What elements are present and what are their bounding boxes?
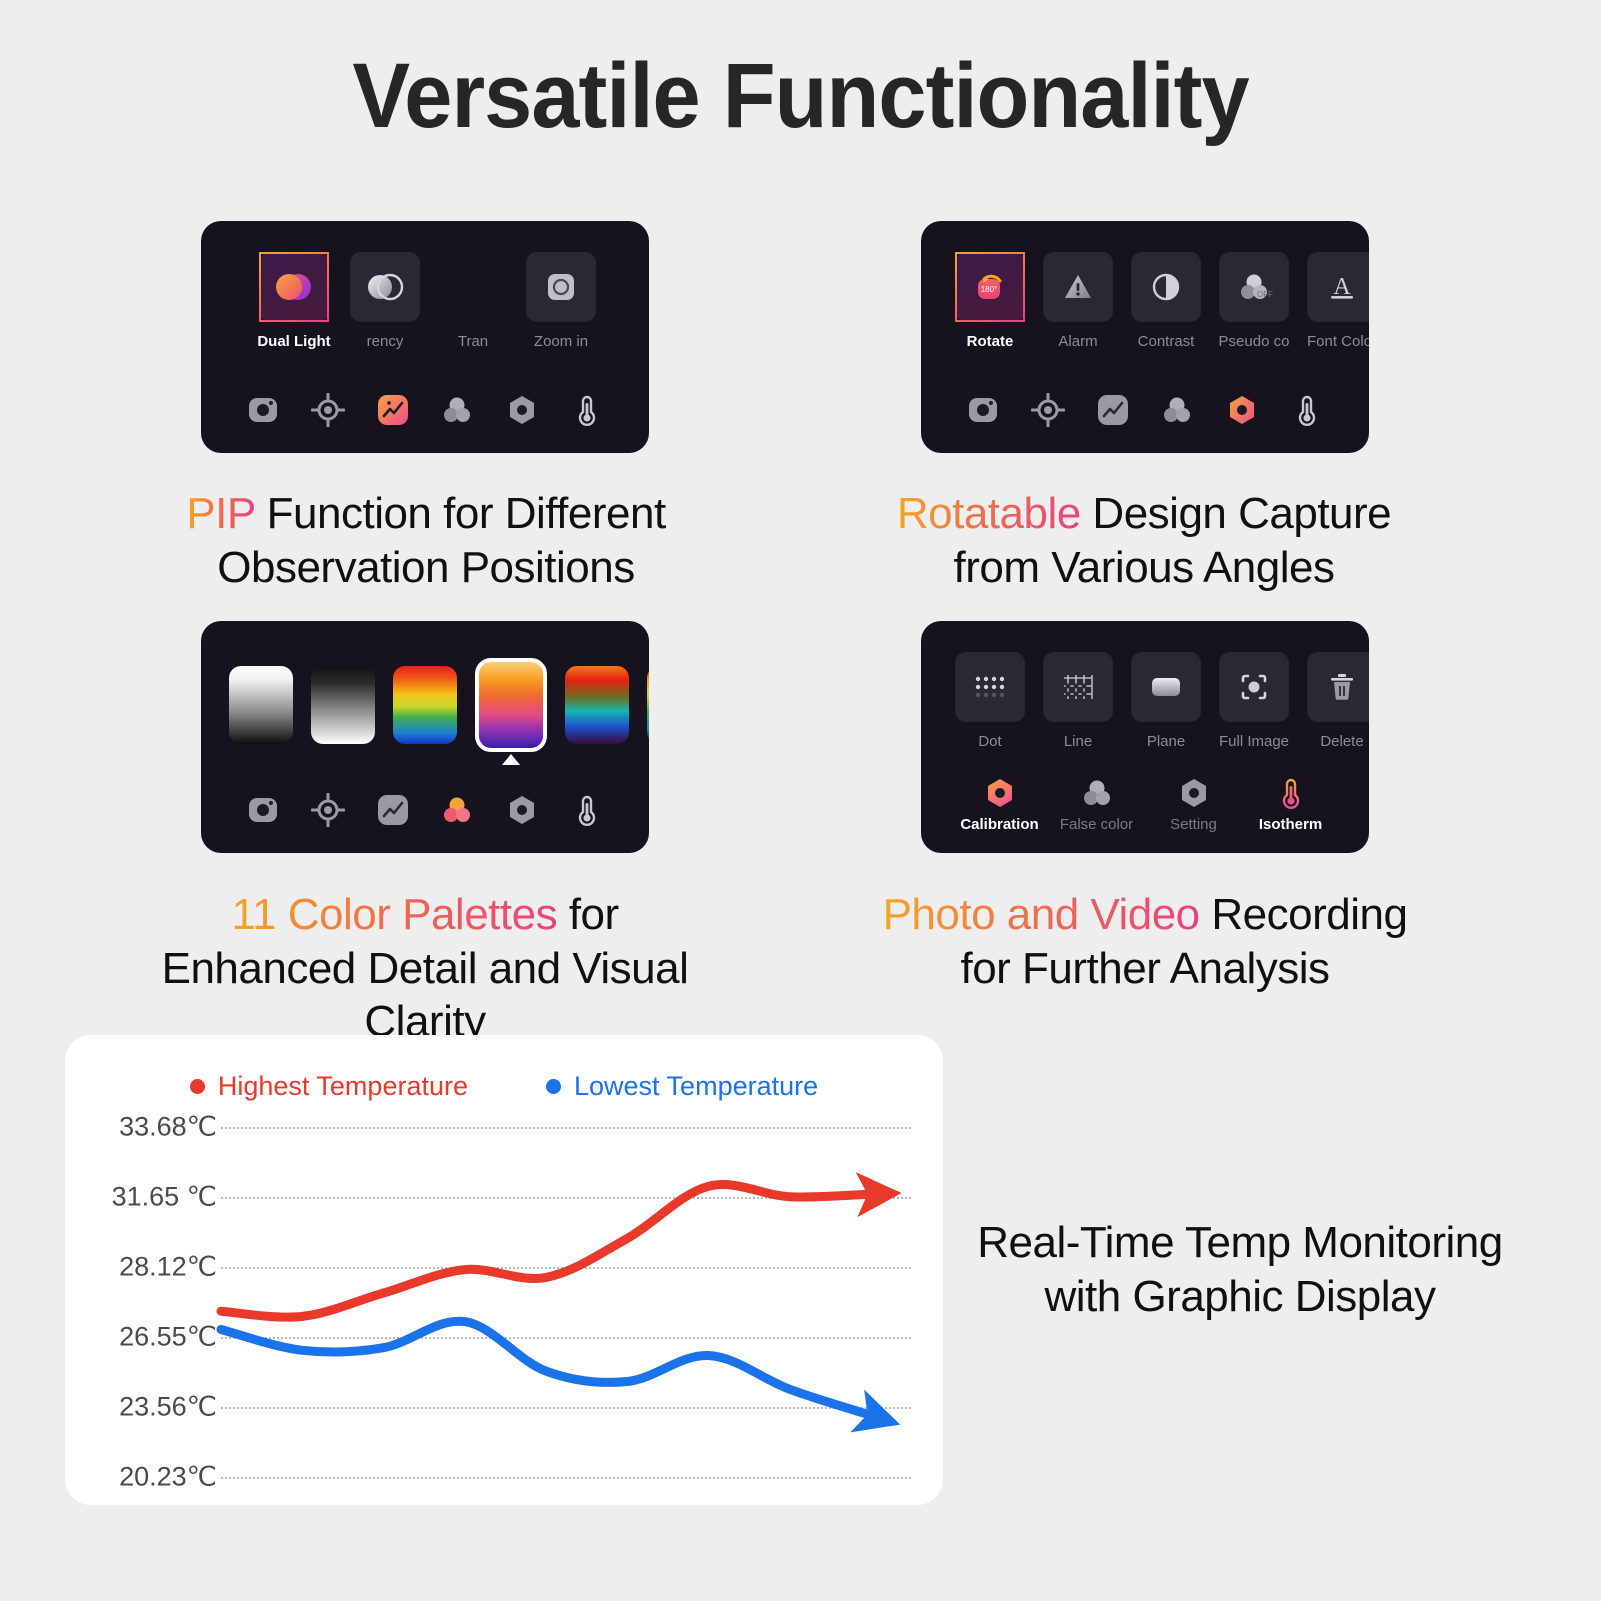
contrast-icon xyxy=(1148,269,1184,305)
y-tick-label: 33.68℃ xyxy=(119,1112,217,1143)
y-tick-label: 23.56℃ xyxy=(119,1392,217,1423)
mode-item-zoom-in[interactable]: Zoom in xyxy=(517,252,605,350)
chart-series-svg xyxy=(221,1127,911,1477)
palettes-nav-row xyxy=(201,793,649,853)
mode-label: Tran xyxy=(458,333,488,350)
setting-icon xyxy=(1225,393,1259,427)
calibration-target-icon xyxy=(311,793,345,827)
caption-rotate: Rotatable Design Capture from Various An… xyxy=(868,487,1420,594)
series-line-highest xyxy=(221,1185,871,1318)
palette-swatch-black-hot[interactable] xyxy=(311,666,375,744)
mode-label: Plane xyxy=(1147,733,1185,750)
nav-item-false-color[interactable] xyxy=(1145,393,1210,427)
mode-item-transparency-2[interactable]: Tran xyxy=(429,252,517,350)
contrast-tile[interactable] xyxy=(1131,252,1201,322)
caption-highlight: Temp Monitoring xyxy=(1185,1218,1503,1267)
pip-mode-row: Dual Light rency xyxy=(201,221,649,350)
setting-icon xyxy=(505,793,539,827)
mode-label: Pseudo co xyxy=(1219,333,1290,350)
nav-item-isotherm[interactable]: Isotherm xyxy=(1242,776,1339,833)
setting-icon xyxy=(505,393,539,427)
y-tick-label: 28.12℃ xyxy=(119,1252,217,1283)
caption-highlight: 11 Color Palettes xyxy=(231,890,557,939)
mode-item-dual-light[interactable]: Dual Light xyxy=(247,252,341,350)
caption-measure: Photo and Video Recording for Further An… xyxy=(860,888,1430,995)
mode-label: Rotate xyxy=(967,333,1014,350)
mode-item-line[interactable]: Line xyxy=(1034,652,1122,750)
nav-label: False color xyxy=(1060,816,1133,833)
mode-item-transparency-1[interactable]: rency xyxy=(341,252,429,350)
transparency-icon xyxy=(365,267,405,307)
false-color-icon xyxy=(1160,393,1194,427)
mode-item-full-image[interactable]: Full Image xyxy=(1210,652,1298,750)
dot-tile[interactable] xyxy=(955,652,1025,722)
mode-label: Line xyxy=(1064,733,1092,750)
full-image-tile[interactable] xyxy=(1219,652,1289,722)
palettes-panel xyxy=(201,621,649,853)
feature-page: Versatile Functionality xyxy=(0,0,1601,1601)
line-grid-icon xyxy=(1060,672,1096,702)
caption-pip: PIP Function for Different Observation P… xyxy=(150,487,702,594)
caption-chart: Real-Time Temp Monitoring with Graphic D… xyxy=(955,1216,1525,1323)
legend-dot-highest xyxy=(190,1079,205,1094)
rotate-nav-row xyxy=(921,393,1369,453)
nav-item-setting[interactable] xyxy=(490,393,555,427)
chart-legend: Highest Temperature Lowest Temperature xyxy=(65,1071,943,1102)
alarm-tile[interactable] xyxy=(1043,252,1113,322)
nav-item-thermometer[interactable] xyxy=(1274,393,1339,427)
palette-swatch-arctic[interactable] xyxy=(647,666,649,744)
palette-swatch-ironbow[interactable] xyxy=(475,658,547,752)
mode-label: Font Color xyxy=(1307,333,1369,350)
alarm-warning-icon xyxy=(1060,269,1096,305)
mode-label: Zoom in xyxy=(534,333,588,350)
chart-plot-area xyxy=(221,1127,911,1477)
calibration-target-icon xyxy=(1031,393,1065,427)
mode-item-font-color[interactable]: A Font Color xyxy=(1298,252,1369,350)
delete-tile[interactable] xyxy=(1307,652,1369,722)
svg-text:180°: 180° xyxy=(981,285,998,294)
svg-text:OFF: OFF xyxy=(1257,290,1273,299)
palette-swatch-lava[interactable] xyxy=(565,666,629,744)
nav-label: Isotherm xyxy=(1259,816,1322,833)
caption-highlight: PIP xyxy=(186,489,255,538)
thermometer-icon xyxy=(1290,393,1324,427)
nav-item-calibration[interactable] xyxy=(1016,393,1081,427)
palette-swatch-white-hot[interactable] xyxy=(229,666,293,744)
font-color-icon: A xyxy=(1325,270,1359,304)
nav-item-chart[interactable] xyxy=(1080,393,1145,427)
page-title: Versatile Functionality xyxy=(48,44,1553,149)
y-tick-label: 26.55℃ xyxy=(119,1322,217,1353)
mode-item-contrast[interactable]: Contrast xyxy=(1122,252,1210,350)
caption-rest: Function for Different Observation Posit… xyxy=(217,489,665,592)
mode-item-delete[interactable]: Delete xyxy=(1298,652,1369,750)
nav-item-false-color[interactable] xyxy=(425,393,490,427)
pseudo-color-tile[interactable]: OFF xyxy=(1219,252,1289,322)
pseudo-color-off-icon: OFF xyxy=(1235,270,1273,304)
nav-item-calibration[interactable]: Calibration xyxy=(951,776,1048,833)
nav-item-calibration[interactable] xyxy=(296,393,361,427)
nav-item-setting[interactable]: Setting xyxy=(1145,776,1242,833)
mode-label: Delete xyxy=(1320,733,1363,750)
isotherm-thermometer-icon xyxy=(1274,776,1308,810)
legend-label-highest: Highest Temperature xyxy=(218,1071,468,1102)
mode-label: Contrast xyxy=(1138,333,1195,350)
y-tick-label: 20.23℃ xyxy=(119,1462,217,1493)
nav-label: Calibration xyxy=(960,816,1038,833)
legend-entry-lowest[interactable]: Lowest Temperature xyxy=(546,1071,818,1102)
camera-icon xyxy=(246,793,280,827)
thermometer-icon xyxy=(570,793,604,827)
camera-icon xyxy=(966,393,1000,427)
full-image-icon xyxy=(1237,670,1271,704)
dual-light-tile[interactable] xyxy=(259,252,329,322)
rotate-180-icon: 180° xyxy=(970,267,1010,307)
false-color-icon xyxy=(440,393,474,427)
legend-label-lowest: Lowest Temperature xyxy=(574,1071,818,1102)
chart-icon xyxy=(376,393,410,427)
pip-nav-row xyxy=(201,393,649,453)
mode-label: Alarm xyxy=(1058,333,1097,350)
zoom-in-tile[interactable] xyxy=(526,252,596,322)
caption-highlight: Photo and Video xyxy=(883,890,1200,939)
caption-lead: Real-Time xyxy=(977,1218,1185,1267)
nav-item-false-color[interactable]: False color xyxy=(1048,776,1145,833)
chart-icon xyxy=(1096,393,1130,427)
false-color-icon xyxy=(440,793,474,827)
caption-palettes: 11 Color Palettes for Enhanced Detail an… xyxy=(130,888,720,1049)
legend-entry-highest[interactable]: Highest Temperature xyxy=(190,1071,468,1102)
mode-label: Dual Light xyxy=(257,333,330,350)
mode-item-dot[interactable]: Dot xyxy=(946,652,1034,750)
calibration-hex-icon xyxy=(983,776,1017,810)
plane-tile[interactable] xyxy=(1131,652,1201,722)
nav-item-camera[interactable] xyxy=(951,393,1016,427)
measure-mode-row: Dot Line xyxy=(921,621,1369,750)
nav-item-camera[interactable] xyxy=(231,393,296,427)
font-color-tile[interactable]: A xyxy=(1307,252,1369,322)
mode-label: rency xyxy=(367,333,404,350)
nav-item-calibration[interactable] xyxy=(296,793,361,827)
nav-item-setting[interactable] xyxy=(490,793,555,827)
gridline xyxy=(221,1477,911,1479)
transparency-tile-2[interactable] xyxy=(438,252,508,322)
thermometer-icon xyxy=(570,393,604,427)
line-tile[interactable] xyxy=(1043,652,1113,722)
setting-icon xyxy=(1177,776,1211,810)
legend-dot-lowest xyxy=(546,1079,561,1094)
nav-item-chart[interactable] xyxy=(360,793,425,827)
nav-item-thermometer[interactable] xyxy=(554,793,619,827)
rotate-panel: 180° Rotate Alar xyxy=(921,221,1369,453)
palette-selected-caret xyxy=(502,754,520,765)
nav-item-chart[interactable] xyxy=(360,393,425,427)
nav-item-false-color[interactable] xyxy=(425,793,490,827)
measure-panel: Dot Line xyxy=(921,621,1369,853)
y-tick-label: 31.65 ℃ xyxy=(112,1182,217,1213)
mode-label: Dot xyxy=(978,733,1001,750)
mode-item-alarm[interactable]: Alarm xyxy=(1034,252,1122,350)
transparency-tile-1[interactable] xyxy=(350,252,420,322)
trash-icon xyxy=(1327,671,1357,703)
rotate-tile[interactable]: 180° xyxy=(955,252,1025,322)
nav-item-camera[interactable] xyxy=(231,793,296,827)
dual-light-icon xyxy=(272,269,316,305)
chart-icon xyxy=(376,793,410,827)
plane-rect-icon xyxy=(1148,674,1184,700)
false-color-icon xyxy=(1080,776,1114,810)
mode-item-pseudo-color[interactable]: OFF Pseudo co xyxy=(1210,252,1298,350)
camera-icon xyxy=(246,393,280,427)
mode-item-plane[interactable]: Plane xyxy=(1122,652,1210,750)
caption-rest: with Graphic Display xyxy=(1044,1272,1435,1321)
zoom-in-icon xyxy=(544,270,578,304)
caption-highlight: Rotatable xyxy=(897,489,1081,538)
nav-item-thermometer[interactable] xyxy=(554,393,619,427)
rotate-mode-row: 180° Rotate Alar xyxy=(921,221,1369,350)
nav-item-setting[interactable] xyxy=(1210,393,1275,427)
palette-row xyxy=(201,621,649,752)
calibration-target-icon xyxy=(311,393,345,427)
temperature-chart-card: Highest Temperature Lowest Temperature 3… xyxy=(65,1035,943,1505)
palette-swatch-rainbow[interactable] xyxy=(393,666,457,744)
series-line-lowest xyxy=(221,1321,871,1415)
mode-item-rotate[interactable]: 180° Rotate xyxy=(946,252,1034,350)
pip-panel: Dual Light rency xyxy=(201,221,649,453)
mode-label: Full Image xyxy=(1219,733,1289,750)
measure-nav-row: Calibration False color Setting xyxy=(921,776,1369,853)
nav-label: Setting xyxy=(1170,816,1217,833)
dot-matrix-icon xyxy=(972,672,1008,702)
